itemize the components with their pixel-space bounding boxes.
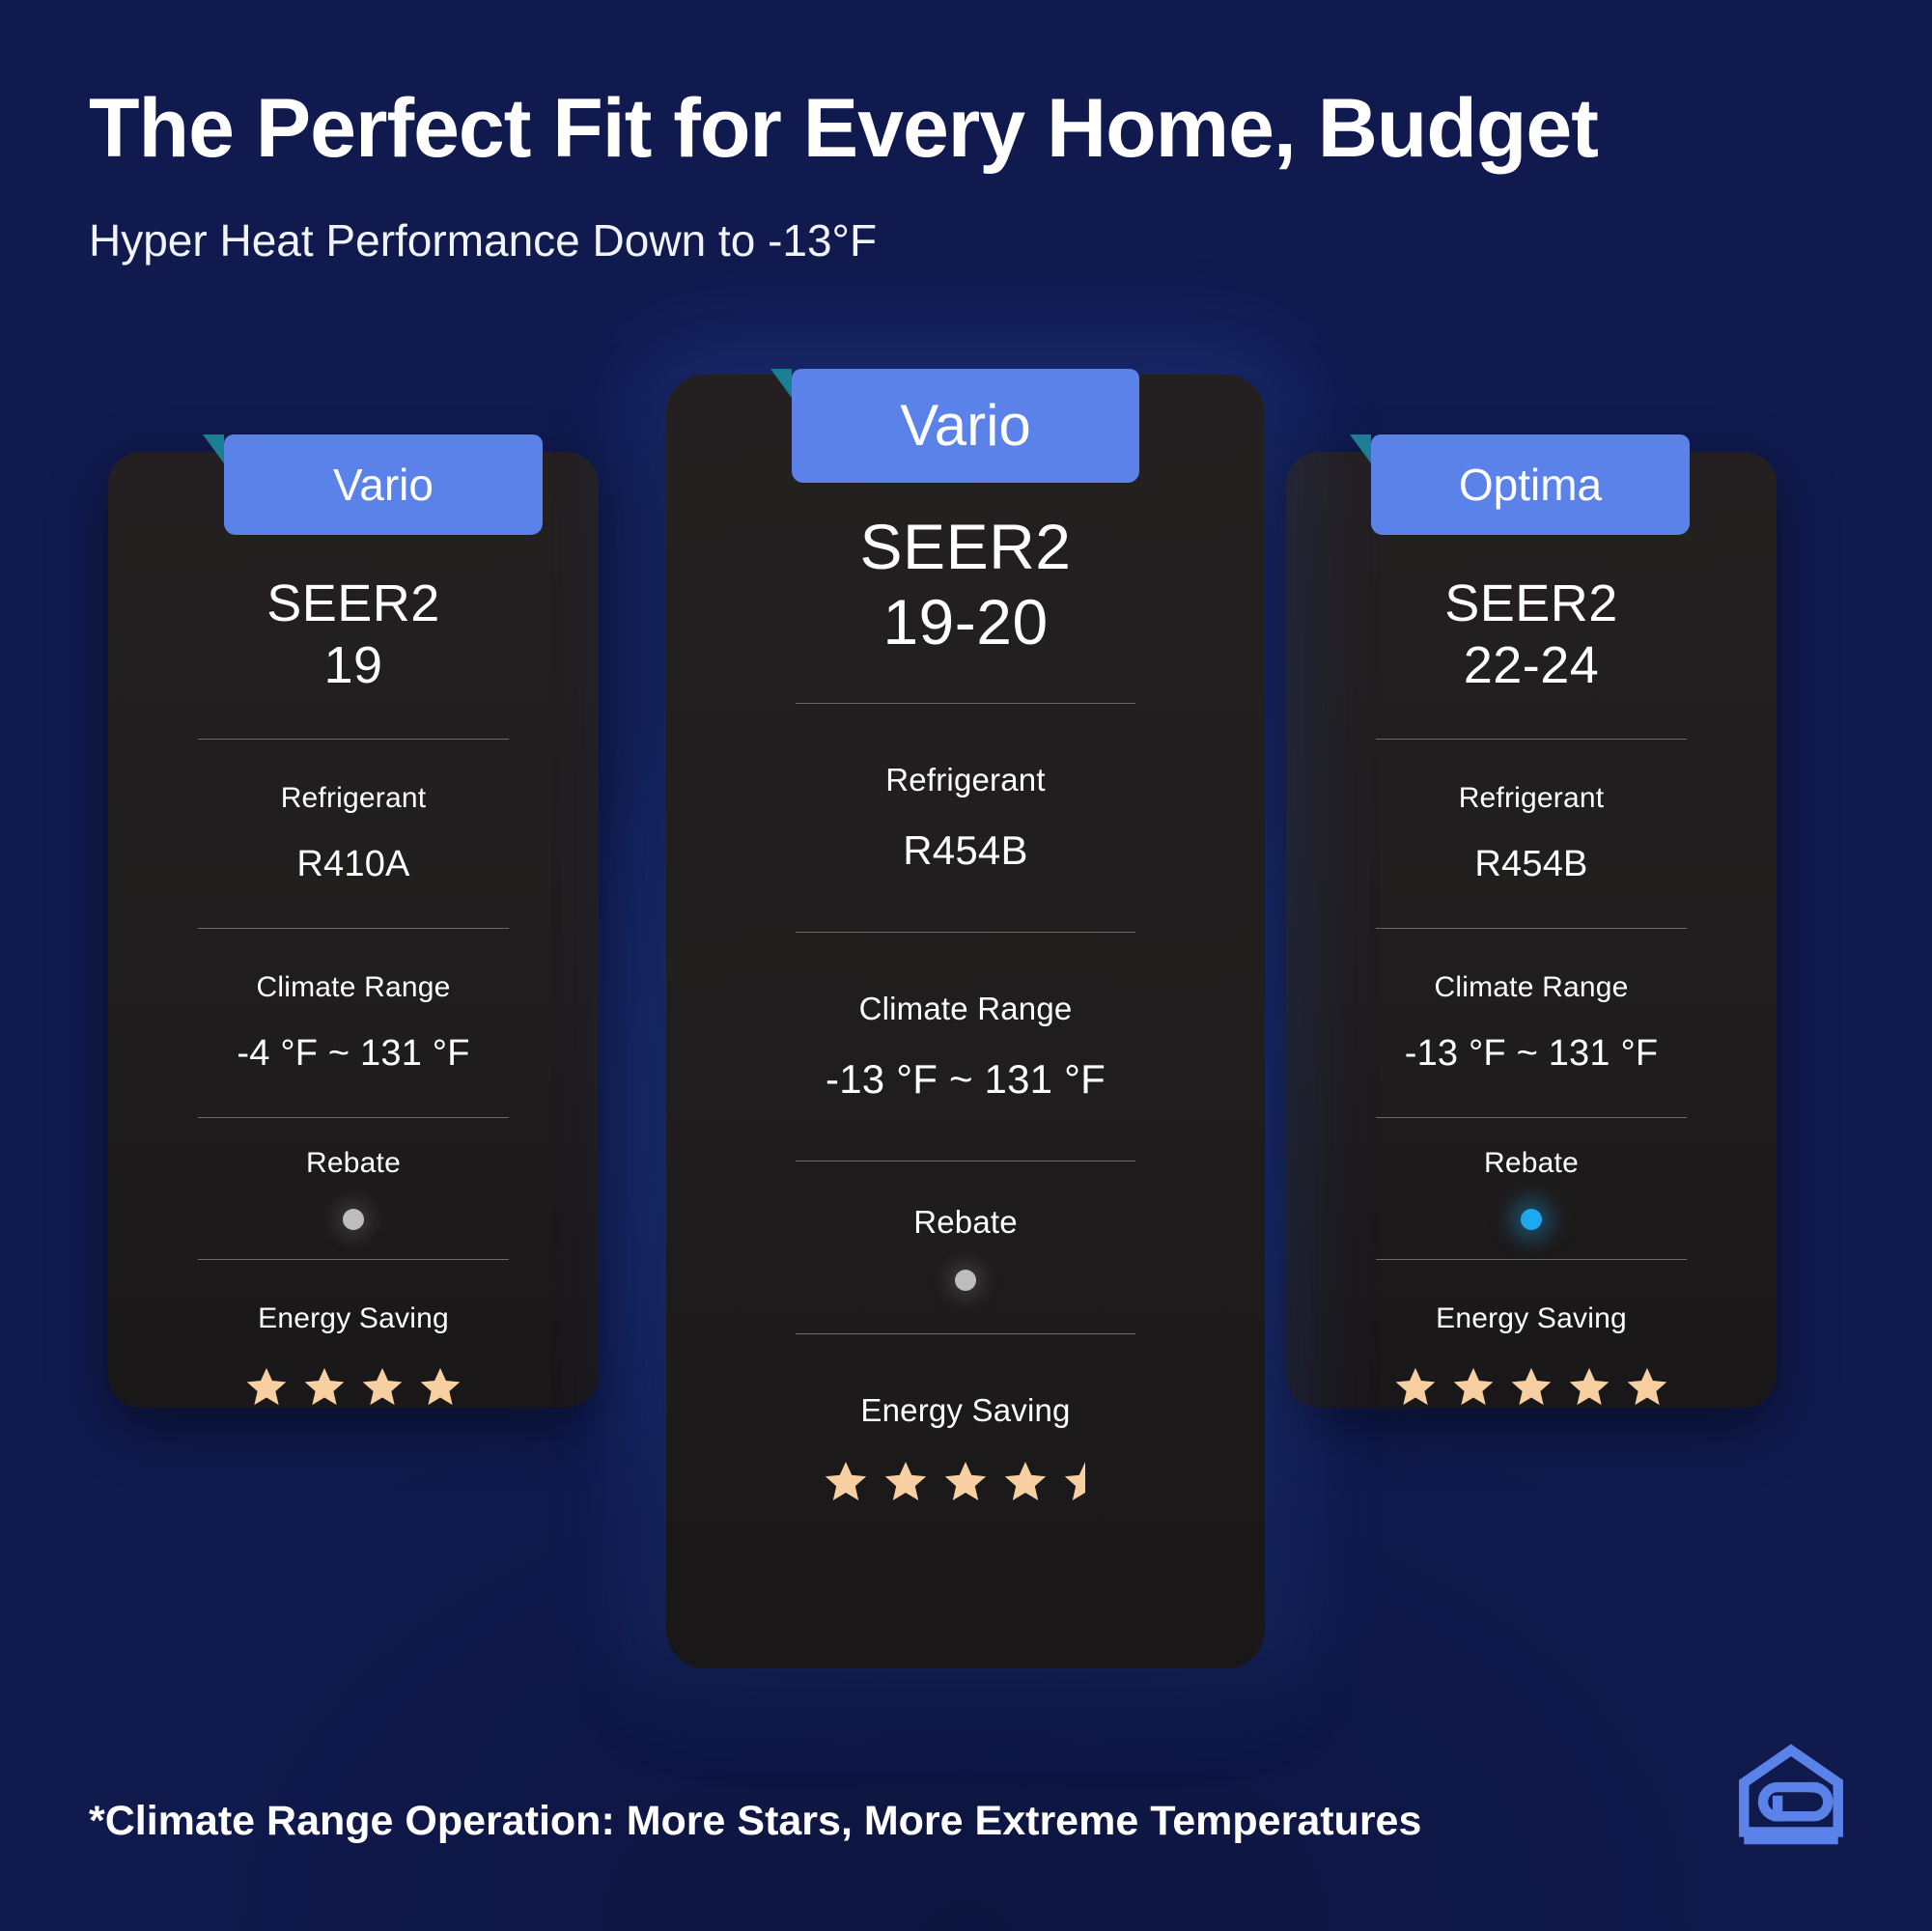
house-logo xyxy=(1735,1738,1847,1850)
refrigerant-value: R454B xyxy=(1340,844,1722,885)
rebate-indicator-icon xyxy=(955,1270,976,1291)
refrigerant-label: Refrigerant xyxy=(162,782,545,815)
star-icon xyxy=(1509,1364,1554,1409)
product-card-vario-19-20[interactable]: SEER2 19-20 Refrigerant R454B Climate Ra… xyxy=(666,375,1265,1668)
refrigerant-value: R410A xyxy=(162,844,545,885)
star-icon xyxy=(302,1364,347,1409)
climate-range-label: Climate Range xyxy=(1340,971,1722,1004)
ribbon-optima-22-24: Optima xyxy=(1371,434,1690,535)
rebate-label: Rebate xyxy=(162,1147,545,1180)
rebate-label: Rebate xyxy=(1340,1147,1722,1180)
star-icon xyxy=(1451,1364,1496,1409)
star-icon xyxy=(942,1458,989,1504)
star-icon xyxy=(823,1458,869,1504)
climate-range-label: Climate Range xyxy=(162,971,545,1004)
energy-saving-rating xyxy=(734,1458,1197,1504)
rebate-label: Rebate xyxy=(734,1204,1197,1241)
rebate-indicator-icon xyxy=(1521,1209,1542,1230)
seer-value: 19 xyxy=(162,635,545,697)
seer-label: SEER2 xyxy=(734,510,1197,585)
comparison-cards: SEER2 19 Refrigerant R410A Climate Range… xyxy=(0,0,1932,1931)
energy-saving-label: Energy Saving xyxy=(1340,1302,1722,1335)
footnote: *Climate Range Operation: More Stars, Mo… xyxy=(89,1798,1421,1845)
card-body: SEER2 22-24 Refrigerant R454B Climate Ra… xyxy=(1286,452,1777,1409)
refrigerant-label: Refrigerant xyxy=(734,762,1197,798)
ribbon-vario-19-20: Vario xyxy=(792,369,1139,483)
energy-saving-rating xyxy=(1340,1364,1722,1409)
climate-range-label: Climate Range xyxy=(734,991,1197,1027)
star-icon xyxy=(882,1458,929,1504)
card-body: SEER2 19 Refrigerant R410A Climate Range… xyxy=(108,452,599,1409)
star-icon xyxy=(1002,1458,1049,1504)
climate-range-value: -4 °F ~ 131 °F xyxy=(162,1033,545,1075)
star-icon xyxy=(360,1364,405,1409)
rebate-indicator-icon xyxy=(343,1209,364,1230)
seer-value: 19-20 xyxy=(734,585,1197,660)
seer-label: SEER2 xyxy=(162,574,545,635)
product-card-vario-19[interactable]: SEER2 19 Refrigerant R410A Climate Range… xyxy=(108,452,599,1408)
refrigerant-value: R454B xyxy=(734,827,1197,874)
half-star-icon xyxy=(1062,1458,1108,1504)
climate-range-value: -13 °F ~ 131 °F xyxy=(734,1056,1197,1103)
card-body: SEER2 19-20 Refrigerant R454B Climate Ra… xyxy=(666,375,1265,1504)
refrigerant-label: Refrigerant xyxy=(1340,782,1722,815)
energy-saving-label: Energy Saving xyxy=(162,1302,545,1335)
infographic-page: The Perfect Fit for Every Home, Budget H… xyxy=(0,0,1932,1931)
ribbon-vario-19: Vario xyxy=(224,434,543,535)
climate-range-value: -13 °F ~ 131 °F xyxy=(1340,1033,1722,1075)
star-icon xyxy=(418,1364,462,1409)
energy-saving-rating xyxy=(162,1364,545,1409)
star-icon xyxy=(244,1364,289,1409)
star-icon xyxy=(1625,1364,1669,1409)
seer-value: 22-24 xyxy=(1340,635,1722,697)
product-card-optima-22-24[interactable]: SEER2 22-24 Refrigerant R454B Climate Ra… xyxy=(1286,452,1777,1408)
star-icon xyxy=(1567,1364,1611,1409)
seer-label: SEER2 xyxy=(1340,574,1722,635)
energy-saving-label: Energy Saving xyxy=(734,1392,1197,1429)
star-icon xyxy=(1393,1364,1438,1409)
